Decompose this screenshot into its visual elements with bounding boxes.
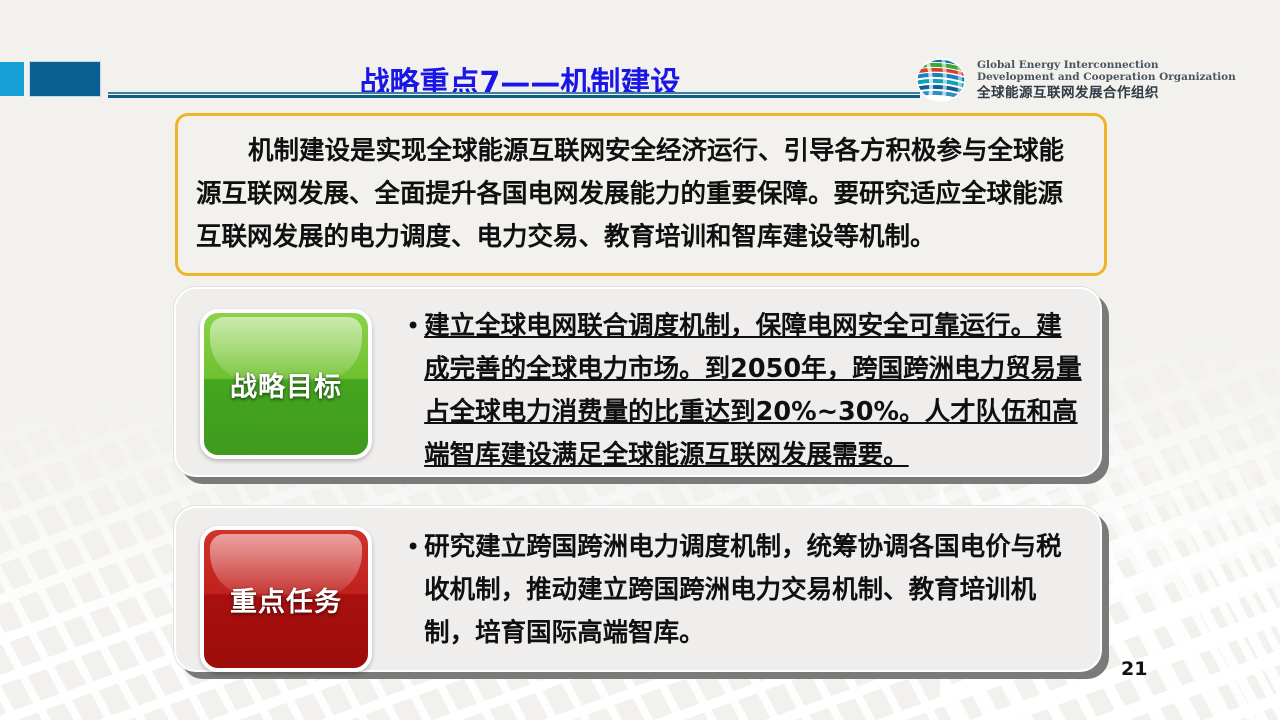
header-square-dark: [30, 62, 100, 96]
logo-en-line2: Development and Cooperation Organization: [977, 71, 1236, 84]
section-card-strategic-goals: 战略目标 • 建立全球电网联合调度机制，保障电网安全可靠运行。建成完善的全球电力…: [174, 287, 1102, 477]
bullet-strategic-goals: • 建立全球电网联合调度机制，保障电网安全可靠运行。建成完善的全球电力市场。到2…: [406, 305, 1086, 477]
globe-logo-icon: [913, 56, 969, 104]
header-square-light: [0, 62, 24, 96]
title-underline-rule: [108, 92, 920, 98]
badge-key-tasks: 重点任务: [200, 526, 372, 672]
logo-cn-name: 全球能源互联网发展合作组织: [977, 85, 1236, 102]
presentation-slide: 战略重点7——机制建设: [0, 0, 1280, 720]
bullet-key-tasks: • 研究建立跨国跨洲电力调度机制，统筹协调各国电价与税收机制，推动建立跨国跨洲电…: [406, 526, 1086, 655]
section-card-key-tasks: 重点任务 • 研究建立跨国跨洲电力调度机制，统筹协调各国电价与税收机制，推动建立…: [174, 506, 1102, 672]
badge-strategic-goals: 战略目标: [200, 309, 372, 459]
logo-en-line1: Global Energy Interconnection: [977, 59, 1236, 72]
organization-logo: Global Energy Interconnection Developmen…: [913, 56, 1236, 104]
bullet-marker-icon: •: [406, 305, 420, 348]
bullet-text: 建立全球电网联合调度机制，保障电网安全可靠运行。建成完善的全球电力市场。到205…: [424, 305, 1086, 477]
badge-label: 重点任务: [230, 580, 342, 619]
page-number: 21: [1121, 658, 1147, 680]
intro-callout-box: 机制建设是实现全球能源互联网安全经济运行、引导各方积极参与全球能源互联网发展、全…: [175, 113, 1107, 276]
intro-text: 机制建设是实现全球能源互联网安全经济运行、引导各方积极参与全球能源互联网发展、全…: [196, 130, 1086, 259]
bullet-text: 研究建立跨国跨洲电力调度机制，统筹协调各国电价与税收机制，推动建立跨国跨洲电力交…: [424, 526, 1086, 655]
bullet-marker-icon: •: [406, 526, 420, 569]
badge-label: 战略目标: [230, 365, 342, 404]
logo-text-block: Global Energy Interconnection Developmen…: [977, 59, 1236, 102]
